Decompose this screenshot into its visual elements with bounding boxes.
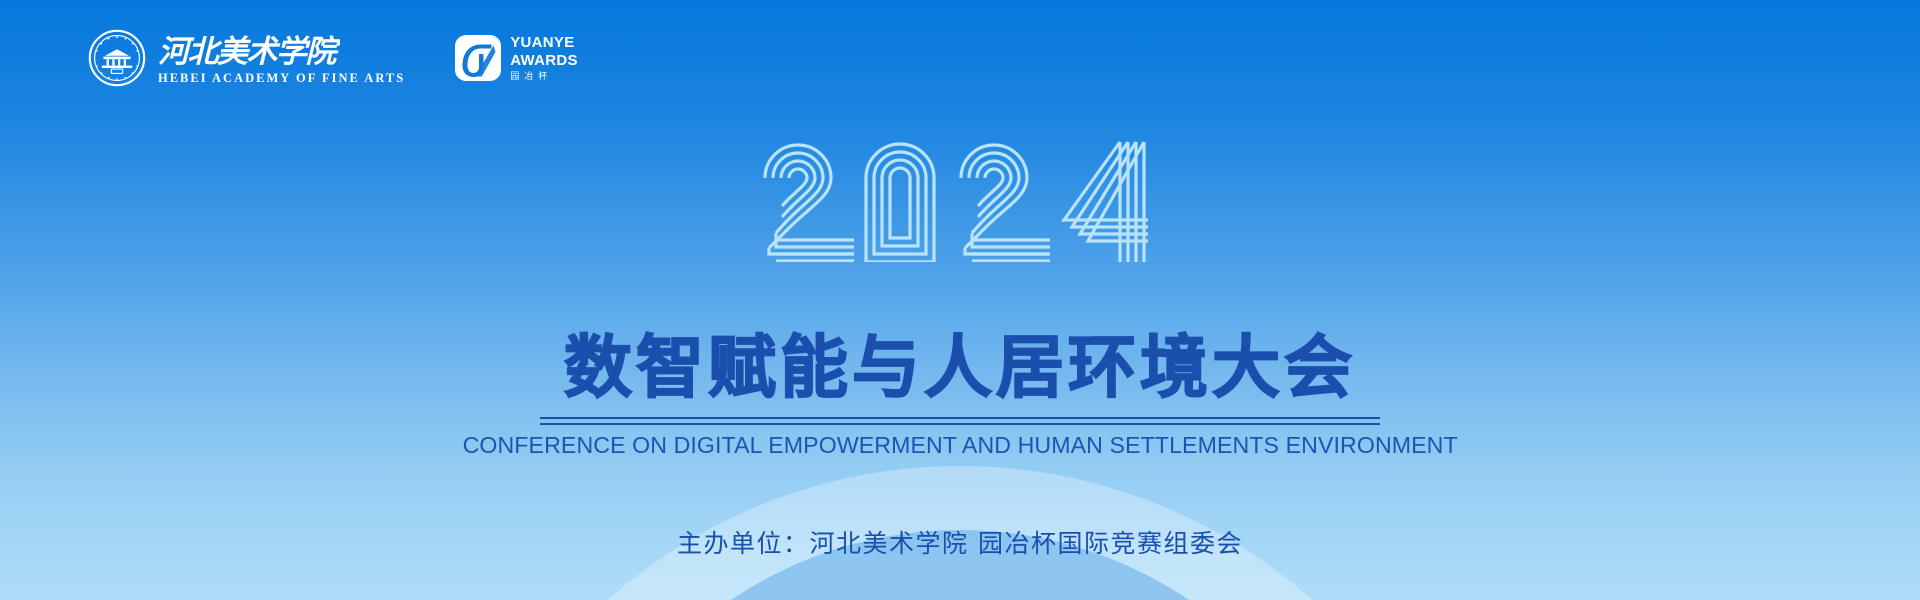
- conference-title-cn: 数智赋能与人居环境大会: [564, 334, 1356, 405]
- yuanye-awards-line2: AWARDS: [510, 53, 578, 69]
- year-digit-2b: [961, 145, 1050, 261]
- logo-hebei-academy[interactable]: 河北美术学院 HEBEI ACADEMY OF FINE ARTS: [88, 29, 405, 87]
- year-graphic: [0, 136, 1920, 262]
- divider-line-top: [540, 417, 1380, 419]
- yuanye-awards-wordmark: YUANYE AWARDS 园冶杯: [510, 35, 578, 82]
- yuanye-awards-mark-icon: [455, 35, 501, 81]
- yuanye-awards-line1: YUANYE: [510, 35, 578, 51]
- hebei-academy-seal-icon: [88, 29, 146, 87]
- title-divider: [540, 417, 1380, 425]
- conference-title-en: CONFERENCE ON DIGITAL EMPOWERMENT AND HU…: [462, 434, 1457, 458]
- hebei-academy-name-en: HEBEI ACADEMY OF FINE ARTS: [158, 72, 405, 85]
- conference-banner: 河北美术学院 HEBEI ACADEMY OF FINE ARTS YUANYE…: [0, 0, 1920, 600]
- logo-row: 河北美术学院 HEBEI ACADEMY OF FINE ARTS YUANYE…: [88, 26, 578, 90]
- year-digit-2a: [765, 145, 854, 261]
- hebei-academy-name-cn: 河北美术学院: [158, 31, 405, 71]
- year-digit-0: [866, 144, 934, 262]
- logo-yuanye-awards[interactable]: YUANYE AWARDS 园冶杯: [455, 35, 578, 82]
- yuanye-awards-name-cn: 园冶杯: [510, 72, 578, 81]
- svg-text:河北美术学院: 河北美术学院: [158, 34, 340, 70]
- title-block: 数智赋能与人居环境大会 CONFERENCE ON DIGITAL EMPOWE…: [0, 334, 1920, 457]
- year-digit-4: [1064, 142, 1148, 262]
- year-2024-svg: [760, 136, 1160, 262]
- divider-line-bottom: [540, 423, 1380, 425]
- organizer-line: 主办单位：河北美术学院 园冶杯国际竞赛组委会: [0, 531, 1920, 556]
- hebei-academy-wordmark: 河北美术学院 HEBEI ACADEMY OF FINE ARTS: [158, 31, 405, 85]
